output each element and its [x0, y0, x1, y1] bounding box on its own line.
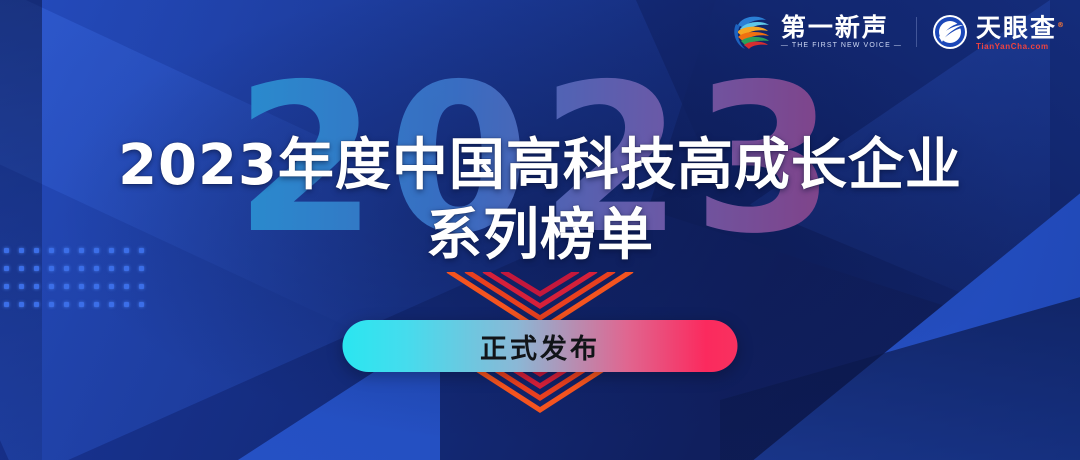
logo-bar: 第一新声 — THE FIRST NEW VOICE — 天眼查® TianYa… — [732, 12, 1066, 52]
registered-trademark-icon: ® — [1057, 21, 1066, 29]
title-line-1: 2023年度中国高科技高成长企业 — [0, 131, 1080, 201]
logo-diyixinsheng[interactable]: 第一新声 — THE FIRST NEW VOICE — — [732, 12, 902, 52]
release-cta-button[interactable]: 正式发布 — [343, 320, 738, 372]
logo-tagline-diyixinsheng: — THE FIRST NEW VOICE — — [781, 41, 902, 51]
logo-tagline-tianyancha: TianYanCha.com — [976, 42, 1066, 52]
page-title: 2023年度中国高科技高成长企业 系列榜单 — [0, 131, 1080, 271]
logo-name-text: 天眼查 — [976, 14, 1057, 43]
swirl-ribbon-logo-icon — [732, 12, 774, 52]
promo-banner: 2023 2023年度中国高科技高成长企业 系列榜单 正式发布 — [0, 0, 1080, 460]
logo-name-diyixinsheng: 第一新声 — [781, 14, 902, 41]
logo-divider — [916, 17, 917, 47]
logo-tianyancha[interactable]: 天眼查® TianYanCha.com — [931, 12, 1066, 51]
eye-lens-logo-icon — [931, 13, 969, 51]
logo-name-tianyancha: 天眼查® — [976, 12, 1066, 41]
title-line-2: 系列榜单 — [0, 201, 1080, 271]
